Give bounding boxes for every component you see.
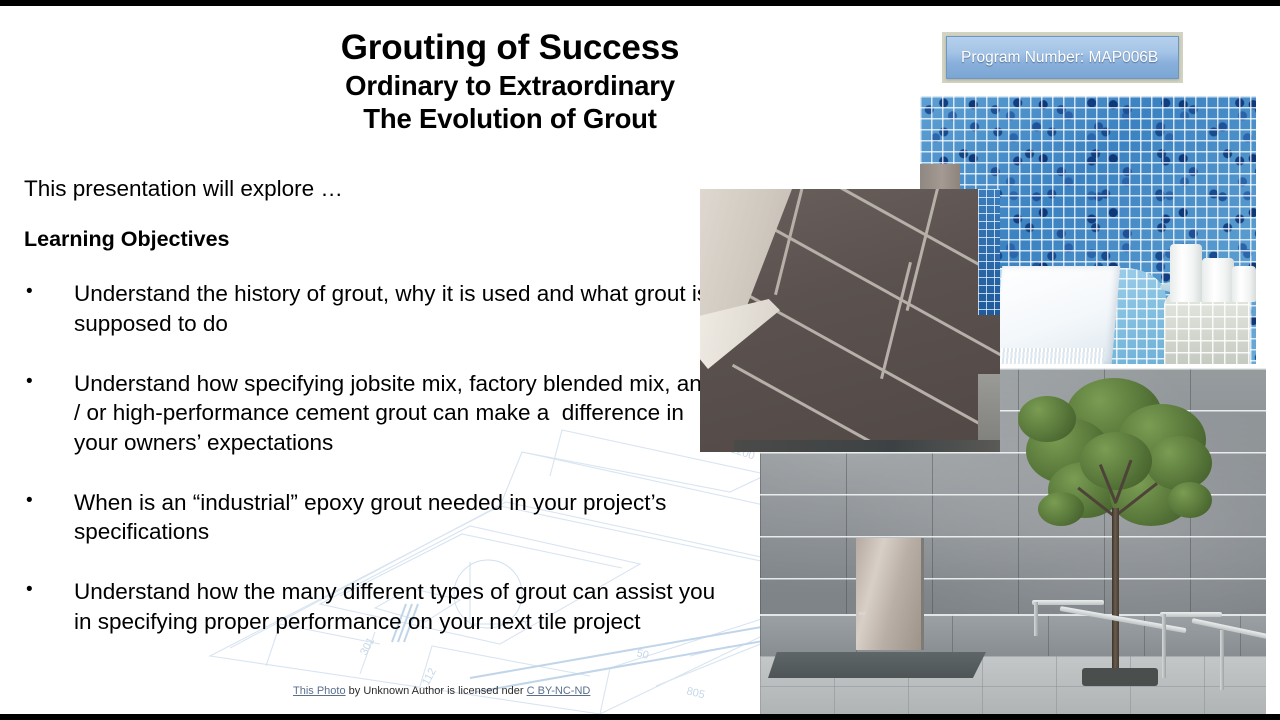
photo-credit: This Photo by Unknown Author is licensed… [293, 685, 590, 697]
license-link[interactable]: C BY-NC-ND [527, 685, 591, 697]
candle [1202, 258, 1234, 302]
mosaic-edge-strip [978, 189, 1000, 315]
bullet-dot-icon: • [24, 369, 74, 458]
slide-letterbox-frame: 1200 R 30.6 102 301 112 50 805 906 10 7 … [0, 0, 1280, 720]
bullet-text: Understand how the many different types … [74, 577, 724, 636]
bullet-dot-icon: • [24, 279, 74, 338]
bullet-text: Understand how specifying jobsite mix, f… [74, 369, 724, 458]
entry-mat [768, 652, 986, 678]
learning-objectives-list: • Understand the history of grout, why i… [24, 279, 724, 636]
handrail-post [1034, 602, 1038, 636]
handrail [1160, 612, 1222, 617]
program-number-label: Program Number: MAP006B [961, 49, 1158, 67]
dark-tile-floor-photo [700, 189, 1000, 452]
handrail-post [1220, 630, 1224, 690]
stone-wall-lower-band [760, 614, 1266, 658]
white-towel [994, 266, 1121, 364]
bullet-text: Understand the history of grout, why it … [74, 279, 724, 338]
learning-objectives-heading: Learning Objectives [24, 227, 724, 252]
handrail-post [1162, 614, 1166, 678]
svg-text:805: 805 [685, 685, 706, 701]
title-line-1: Grouting of Success [140, 28, 880, 69]
slide-body: This presentation will explore … Learnin… [24, 174, 724, 636]
tree-trunk [1112, 508, 1119, 680]
photo-credit-middle-text: by Unknown Author is licensed nder [346, 685, 527, 697]
list-item: • Understand the history of grout, why i… [24, 279, 724, 338]
slide-canvas: 1200 R 30.6 102 301 112 50 805 906 10 7 … [0, 6, 1280, 714]
list-item: • When is an “industrial” epoxy grout ne… [24, 488, 724, 547]
svg-text:50: 50 [635, 647, 650, 662]
mosaic-stool [1164, 292, 1250, 364]
slide-title: Grouting of Success Ordinary to Extraord… [140, 28, 880, 136]
bottom-edge-strip [734, 440, 1000, 452]
candle [1232, 266, 1256, 302]
svg-text:301: 301 [358, 636, 377, 658]
title-line-3: The Evolution of Grout [140, 102, 880, 136]
metal-door [856, 538, 924, 650]
handrail [1032, 600, 1104, 605]
program-number-badge: Program Number: MAP006B [946, 36, 1179, 79]
bullet-dot-icon: • [24, 577, 74, 636]
bullet-dot-icon: • [24, 488, 74, 547]
bullet-text: When is an “industrial” epoxy grout need… [74, 488, 724, 547]
candle [1170, 244, 1202, 302]
tree-base-grate [1082, 668, 1158, 686]
this-photo-link[interactable]: This Photo [293, 685, 346, 697]
intro-line: This presentation will explore … [24, 174, 724, 203]
list-item: • Understand how specifying jobsite mix,… [24, 369, 724, 458]
title-line-2: Ordinary to Extraordinary [140, 69, 880, 103]
list-item: • Understand how the many different type… [24, 577, 724, 636]
